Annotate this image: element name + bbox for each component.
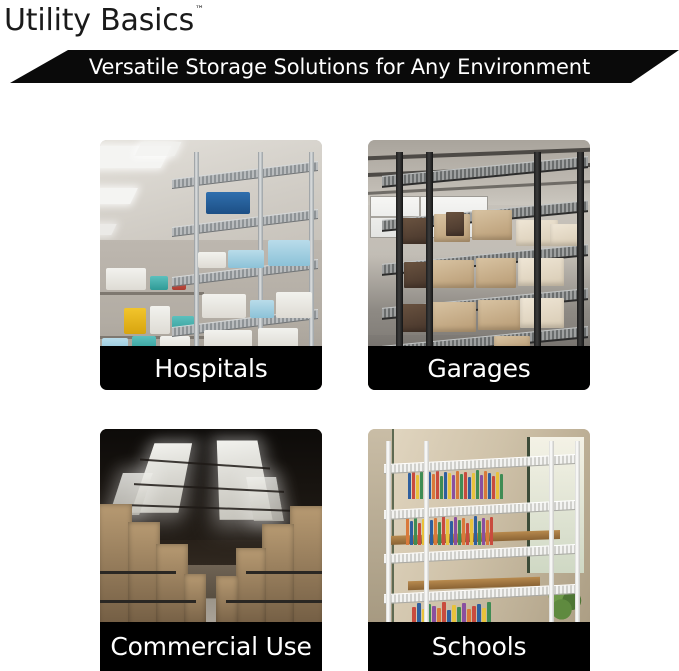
rack-post [426, 152, 433, 364]
tile-commercial-use[interactable]: Commercial Use [100, 429, 322, 671]
wire-shelving-unit [172, 152, 318, 360]
supply-bin [150, 306, 170, 334]
brand-logo: Utility Basics ™ [4, 2, 204, 42]
storage-carton [430, 260, 474, 288]
rack-post [534, 152, 541, 364]
supply-bin [124, 308, 146, 334]
supply-bin [250, 300, 274, 318]
supply-bin [228, 250, 264, 268]
supply-bin [202, 294, 246, 318]
storage-carton [518, 258, 564, 286]
tile-label-text: Garages [427, 354, 530, 383]
rack-beam [100, 600, 196, 603]
tile-label-text: Hospitals [154, 354, 267, 383]
supply-bin [198, 252, 226, 268]
book-row [408, 469, 503, 499]
pallet-rack-column [236, 548, 266, 632]
tile-label-bar: Schools [368, 622, 590, 671]
book-row [406, 515, 493, 545]
tile-label-bar: Commercial Use [100, 622, 322, 671]
supply-bin [106, 268, 146, 290]
supply-bin [268, 240, 310, 266]
supply-bin [206, 192, 250, 214]
storage-carton [432, 302, 476, 332]
trademark-icon: ™ [195, 6, 204, 15]
storage-carton [520, 298, 564, 328]
rack-post [577, 152, 584, 364]
tile-hospitals[interactable]: Hospitals [100, 140, 322, 390]
tile-garages[interactable]: Garages [368, 140, 590, 390]
rack-beam [246, 571, 322, 574]
storage-carton [472, 210, 512, 240]
tile-label-text: Schools [432, 632, 527, 661]
supply-bin [150, 276, 168, 290]
rack-beam [226, 600, 322, 603]
headline-banner: Versatile Storage Solutions for Any Envi… [0, 50, 679, 88]
tile-label-text: Commercial Use [110, 632, 311, 661]
banner-headline: Versatile Storage Solutions for Any Envi… [0, 50, 679, 83]
storage-carton [446, 212, 464, 236]
supply-bin [276, 292, 312, 318]
category-tile-grid: Hospitals [100, 140, 588, 671]
tile-label-bar: Garages [368, 346, 590, 390]
pallet-rack-column [290, 506, 322, 632]
storage-carton [476, 258, 516, 288]
tile-label-bar: Hospitals [100, 346, 322, 390]
supply-bin [258, 328, 298, 348]
tile-schools[interactable]: Schools [368, 429, 590, 671]
storage-carton [478, 300, 520, 330]
pallet-rack-column [262, 524, 294, 632]
brand-name: Utility Basics [4, 2, 194, 40]
rack-beam [100, 571, 176, 574]
rack-post [396, 152, 403, 364]
